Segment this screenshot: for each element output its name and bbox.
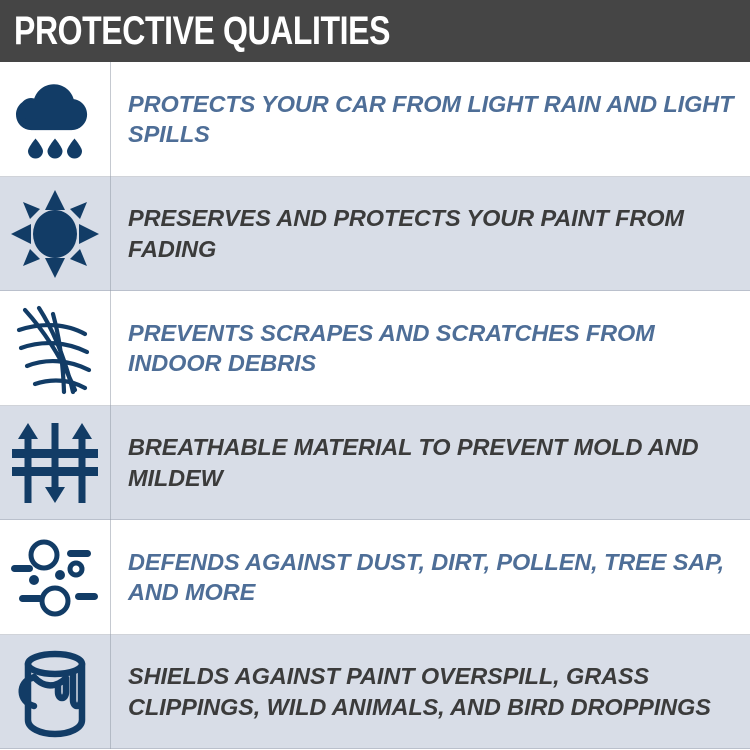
list-item: DEFENDS AGAINST DUST, DIRT, POLLEN, TREE… <box>0 520 750 635</box>
list-item-label: PROTECTS YOUR CAR FROM LIGHT RAIN AND LI… <box>128 89 734 150</box>
rain-cloud-icon <box>9 73 101 165</box>
text-cell: PRESERVES AND PROTECTS YOUR PAINT FROM F… <box>111 177 750 292</box>
paint-can-icon <box>10 644 100 740</box>
header-bar: PROTECTIVE QUALITIES <box>0 0 750 62</box>
text-cell: SHIELDS AGAINST PAINT OVERSPILL, GRASS C… <box>111 635 750 750</box>
list-item: BREATHABLE MATERIAL TO PREVENT MOLD AND … <box>0 406 750 521</box>
icon-cell <box>0 62 110 177</box>
protective-qualities-infographic: PROTECTIVE QUALITIES PROTECTS YOUR CAR F… <box>0 0 750 750</box>
text-cell: PREVENTS SCRAPES AND SCRATCHES FROM INDO… <box>111 291 750 406</box>
list-item-label: SHIELDS AGAINST PAINT OVERSPILL, GRASS C… <box>128 661 734 722</box>
list-item-label: PRESERVES AND PROTECTS YOUR PAINT FROM F… <box>128 203 734 264</box>
text-cell: DEFENDS AGAINST DUST, DIRT, POLLEN, TREE… <box>111 520 750 635</box>
list-item-label: DEFENDS AGAINST DUST, DIRT, POLLEN, TREE… <box>128 547 734 608</box>
list-item-label: PREVENTS SCRAPES AND SCRATCHES FROM INDO… <box>128 318 734 379</box>
dust-particles-icon <box>7 533 103 621</box>
icon-cell <box>0 635 110 750</box>
feature-list: PROTECTS YOUR CAR FROM LIGHT RAIN AND LI… <box>0 62 750 749</box>
icon-cell <box>0 177 110 292</box>
breathable-airflow-icon <box>12 419 98 507</box>
list-item: PREVENTS SCRAPES AND SCRATCHES FROM INDO… <box>0 291 750 406</box>
list-item: PROTECTS YOUR CAR FROM LIGHT RAIN AND LI… <box>0 62 750 177</box>
list-item: PRESERVES AND PROTECTS YOUR PAINT FROM F… <box>0 177 750 292</box>
text-cell: BREATHABLE MATERIAL TO PREVENT MOLD AND … <box>111 406 750 521</box>
icon-cell <box>0 406 110 521</box>
list-item: SHIELDS AGAINST PAINT OVERSPILL, GRASS C… <box>0 635 750 750</box>
list-item-label: BREATHABLE MATERIAL TO PREVENT MOLD AND … <box>128 432 734 493</box>
icon-cell <box>0 291 110 406</box>
icon-cell <box>0 520 110 635</box>
sun-icon <box>9 188 101 280</box>
page-title: PROTECTIVE QUALITIES <box>14 11 390 51</box>
text-cell: PROTECTS YOUR CAR FROM LIGHT RAIN AND LI… <box>111 62 750 177</box>
scratch-mesh-icon <box>9 300 101 396</box>
